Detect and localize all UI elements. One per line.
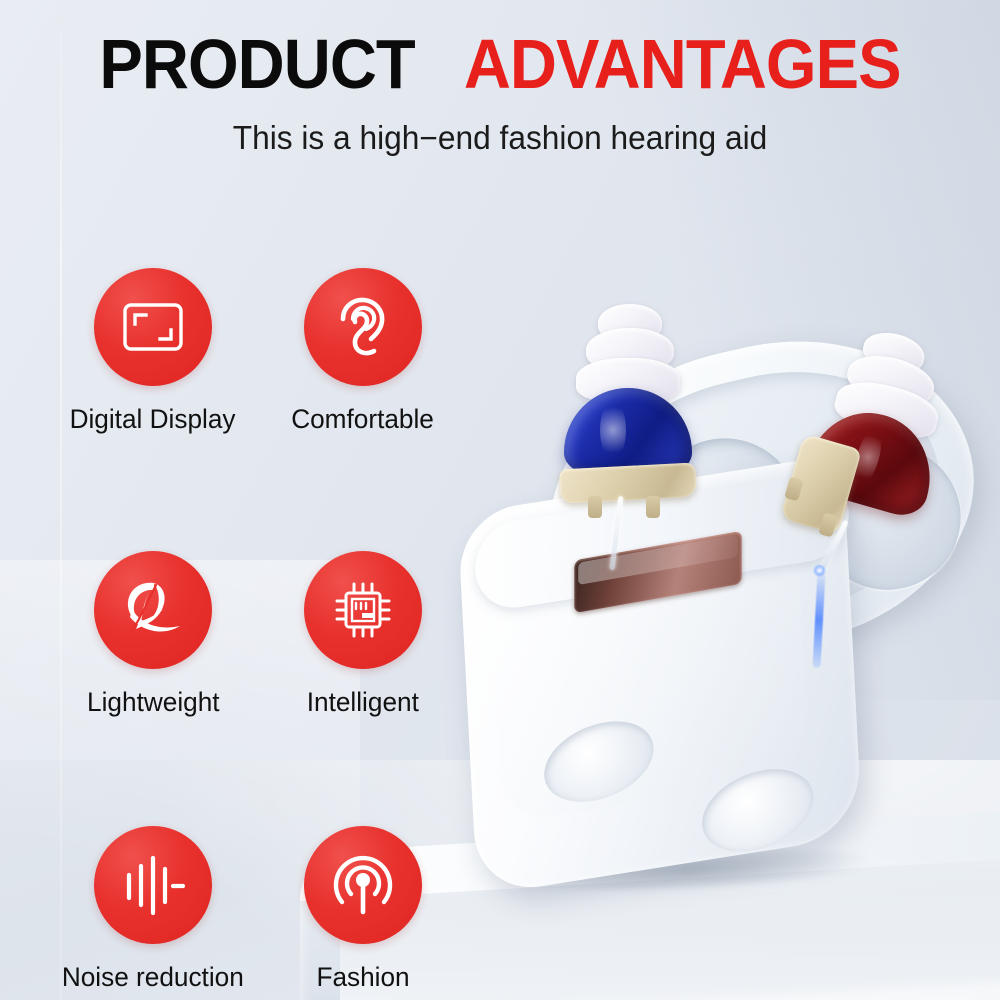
feature-fashion[interactable]: Fashion <box>258 826 468 993</box>
feature-icon-badge <box>94 826 212 944</box>
feature-row-1: Digital Display Comfortable <box>48 268 468 435</box>
row-spacer <box>48 718 468 826</box>
display-frame-icon <box>122 302 184 352</box>
feature-row-3: Noise reduction Fashion <box>48 826 468 993</box>
feature-label: Digital Display <box>70 403 236 435</box>
feature-lightweight[interactable]: Lightweight <box>48 551 258 718</box>
hearing-aid-left-blue <box>550 300 730 530</box>
feather-icon <box>118 579 188 641</box>
shell-highlight <box>600 400 626 460</box>
sound-wave-icon <box>120 853 186 917</box>
feature-icon-badge <box>304 551 422 669</box>
feature-label: Comfortable <box>292 403 435 435</box>
product-advantages-poster: PRODUCT ADVANTAGES This is a high−end fa… <box>0 0 1000 1000</box>
feature-noise-reduction[interactable]: Noise reduction <box>48 826 258 993</box>
page-title: PRODUCT ADVANTAGES <box>35 26 965 102</box>
hearing-aid-right-red <box>785 328 975 578</box>
aid-shell <box>564 388 692 474</box>
row-spacer <box>48 435 468 551</box>
contact-prong-right <box>646 496 660 518</box>
feature-intelligent[interactable]: Intelligent <box>258 551 468 718</box>
contact-prong-left <box>588 496 602 518</box>
title-primary: PRODUCT <box>99 25 414 103</box>
feature-label: Lightweight <box>87 686 220 718</box>
feature-label: Intelligent <box>307 686 419 718</box>
feature-label: Fashion <box>316 961 409 993</box>
feature-label: Noise reduction <box>62 961 244 993</box>
broadcast-signal-icon <box>330 852 396 918</box>
feature-icon-badge <box>94 551 212 669</box>
page-subtitle: This is a high−end fashion hearing aid <box>20 116 980 160</box>
feature-digital-display[interactable]: Digital Display <box>48 268 258 435</box>
feature-icon-badge <box>304 268 422 386</box>
product-image <box>455 300 1000 900</box>
feature-grid: Digital Display Comfortable <box>48 268 468 993</box>
title-accent: ADVANTAGES <box>464 25 901 103</box>
feature-comfortable[interactable]: Comfortable <box>258 268 468 435</box>
feature-icon-badge <box>94 268 212 386</box>
ear-icon <box>334 295 392 359</box>
cpu-chip-icon <box>331 578 395 642</box>
aid-faceplate <box>559 462 697 503</box>
feature-icon-badge <box>304 826 422 944</box>
feature-row-2: Lightweight <box>48 551 468 718</box>
